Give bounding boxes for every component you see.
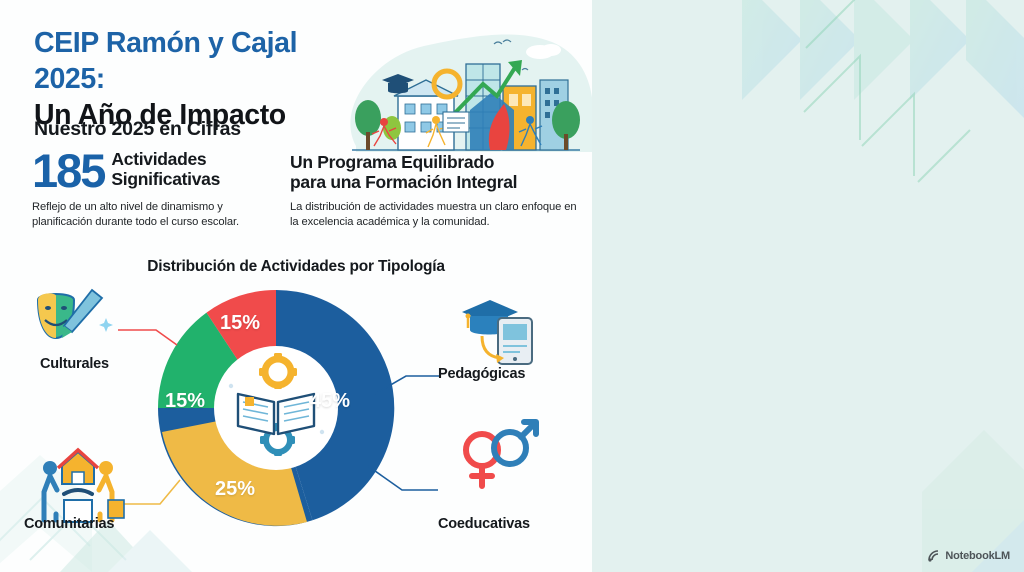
chart-label-coeducativas: Coeducativas	[438, 516, 530, 532]
right-panel: Impacto Estratégico Clave Fuerte Vincula…	[592, 0, 1024, 572]
stat-block: 185 Actividades Significativas Reflejo d…	[32, 148, 282, 230]
chart-label-culturales: Culturales	[40, 356, 109, 372]
page-title-line1: CEIP Ramón y Cajal 2025:	[34, 26, 374, 98]
stat-label-line1: Actividades	[111, 149, 206, 169]
stat-label-line2: Significativas	[111, 169, 220, 189]
program-heading-line2: para una Formación Integral	[290, 172, 517, 192]
notebooklm-icon	[928, 550, 941, 562]
stats-heading: Nuestro 2025 en Cifras	[34, 118, 241, 141]
slice-value-culturales: 15%	[220, 312, 260, 335]
decorative-chevrons-right	[592, 0, 1024, 572]
chart-label-pedagogicas: Pedagógicas	[438, 366, 525, 382]
notebooklm-label: NotebookLM	[945, 550, 1010, 562]
left-panel: CEIP Ramón y Cajal 2025: Un Año de Impac…	[0, 0, 592, 572]
program-heading: Un Programa Equilibrado para una Formaci…	[290, 152, 578, 192]
stat-label: Actividades Significativas	[111, 148, 220, 189]
theatre-mask-brush-icon	[38, 290, 113, 338]
program-heading-line1: Un Programa Equilibrado	[290, 152, 494, 172]
gender-symbols-icon	[466, 422, 536, 486]
program-block: Un Programa Equilibrado para una Formaci…	[290, 152, 578, 230]
handshake-house-icon	[43, 450, 124, 522]
slice-value-pedagogicas: 45%	[310, 390, 350, 413]
infographic-page: CEIP Ramón y Cajal 2025: Un Año de Impac…	[0, 0, 1024, 572]
activities-donut-chart: 45% 25% 15% 15% Pedagógicas Coeducativas…	[10, 272, 582, 562]
chart-label-comunitarias: Comunitarias	[24, 516, 114, 532]
notebooklm-watermark: NotebookLM	[928, 550, 1010, 562]
slice-value-coeducativas: 25%	[215, 478, 255, 501]
stat-description: Reflejo de un alto nivel de dinamismo y …	[32, 200, 282, 230]
slice-value-comunitarias: 15%	[165, 390, 205, 413]
stat-number: 185	[32, 148, 104, 193]
graduation-cap-tablet-icon	[462, 300, 532, 364]
program-description: La distribución de actividades muestra u…	[290, 200, 578, 230]
